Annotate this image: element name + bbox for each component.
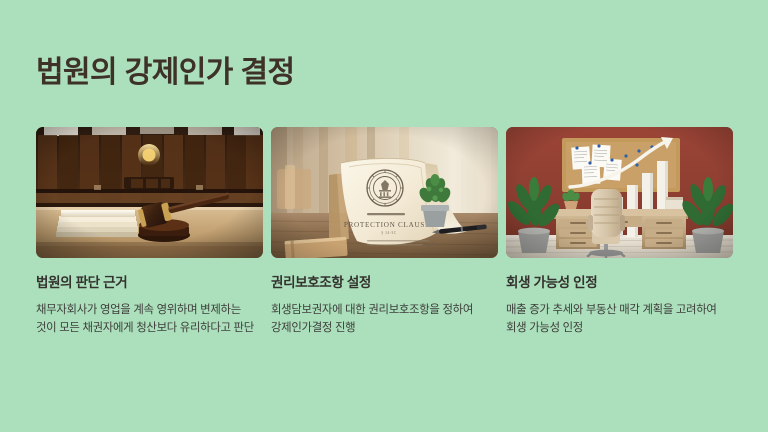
- page-title: 법원의 강제인가 결정: [36, 54, 294, 92]
- protection-clause-document-photo: PROTECTION CLAUSE § 14-3C: [271, 127, 498, 258]
- card-item: 법원의 판단 근거 채무자회사가 영업을 계속 영위하며 변제하는 것이 모든 …: [36, 127, 263, 337]
- card-title: 법원의 판단 근거: [36, 274, 263, 292]
- card-item: PROTECTION CLAUSE § 14-3C: [271, 127, 498, 337]
- card-body: 회생담보권자에 대한 권리보호조항을 정하여 강제인가결정 진행: [271, 301, 495, 338]
- card-item: 회생 가능성 인정 매출 증가 추세와 부동산 매각 계획을 고려하여 회생 가…: [506, 127, 733, 337]
- office-desk-growth-chart-photo: [506, 127, 733, 258]
- courtroom-gavel-documents-photo: [36, 127, 263, 258]
- slide-root: 법원의 강제인가 결정: [0, 0, 768, 432]
- card-title: 회생 가능성 인정: [506, 274, 733, 292]
- card-body: 매출 증가 추세와 부동산 매각 계획을 고려하여 회생 가능성 인정: [506, 301, 730, 338]
- card-row: 법원의 판단 근거 채무자회사가 영업을 계속 영위하며 변제하는 것이 모든 …: [36, 127, 733, 337]
- card-body: 채무자회사가 영업을 계속 영위하며 변제하는 것이 모든 채권자에게 청산보다…: [36, 301, 260, 338]
- card-title: 권리보호조항 설정: [271, 274, 498, 292]
